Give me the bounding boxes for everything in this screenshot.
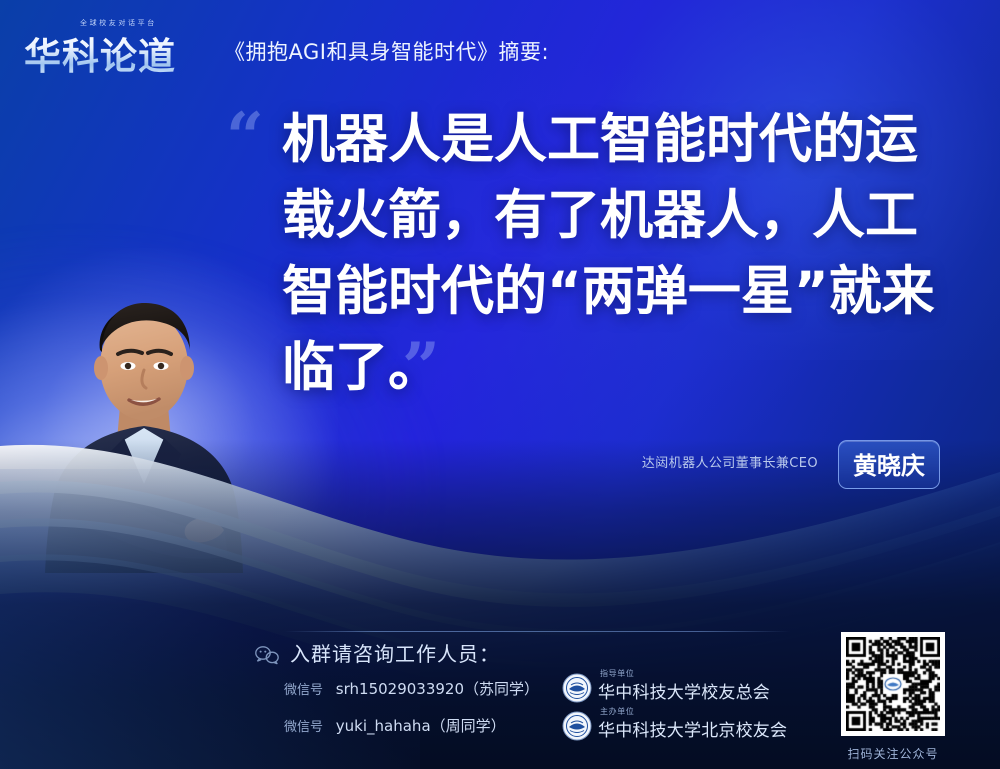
quote-line: 机器人是人工智能时代的运	[282, 102, 972, 178]
organization-name: 华中科技大学北京校友会	[598, 716, 787, 741]
university-seal-icon	[562, 711, 592, 741]
contact-label: 微信号	[284, 720, 323, 735]
contact-value: srh15029033920（苏同学）	[336, 680, 539, 698]
qr-code-image[interactable]	[841, 632, 945, 736]
contact-label: 微信号	[284, 683, 323, 698]
quote-line: 载火箭，有了机器人，人工	[282, 178, 972, 254]
join-group-title: 入群请咨询工作人员：	[290, 638, 500, 667]
quote-open-mark: “	[226, 104, 264, 170]
page-title: 《拥抱AGI和具身智能时代》摘要:	[224, 36, 549, 66]
speaker-name-badge: 黄晓庆	[838, 440, 940, 489]
poster-canvas: 全球校友对话平台 华科论道 《拥抱AGI和具身智能时代》摘要: “ 机器人是人工…	[0, 0, 1000, 769]
logo-wordmark: 华科论道	[24, 26, 176, 80]
footer-divider	[285, 631, 790, 632]
qr-code-canvas	[846, 637, 940, 731]
attribution: 达闼机器人公司董事长兼CEO 黄晓庆	[600, 440, 940, 482]
qr-code-caption: 扫码关注公众号	[841, 745, 945, 762]
organization-guiding: 指导单位 华中科技大学校友总会	[562, 670, 792, 706]
organization-host: 主办单位 华中科技大学北京校友会	[562, 708, 792, 744]
contact-value: yuki_hahaha（周同学）	[336, 717, 506, 735]
quote-line: 临了。	[282, 330, 972, 406]
quote-line: 智能时代的“两弹一星”就来	[282, 254, 972, 330]
wechat-icon	[254, 645, 280, 665]
organization-name: 华中科技大学校友总会	[598, 678, 770, 703]
university-seal-icon	[562, 673, 592, 703]
contact-row: 微信号 yuki_hahaha（周同学）	[284, 715, 506, 736]
qr-code-block[interactable]: 扫码关注公众号	[841, 632, 945, 762]
quote-close-mark: ”	[402, 334, 440, 400]
speaker-role: 达闼机器人公司董事长兼CEO	[642, 452, 818, 471]
poster-header: 全球校友对话平台 华科论道 《拥抱AGI和具身智能时代》摘要:	[0, 0, 1000, 92]
quote-text: 机器人是人工智能时代的运 载火箭，有了机器人，人工 智能时代的“两弹一星”就来 …	[282, 102, 972, 406]
contact-row: 微信号 srh15029033920（苏同学）	[284, 678, 539, 699]
brand-logo: 全球校友对话平台 华科论道	[24, 10, 214, 72]
